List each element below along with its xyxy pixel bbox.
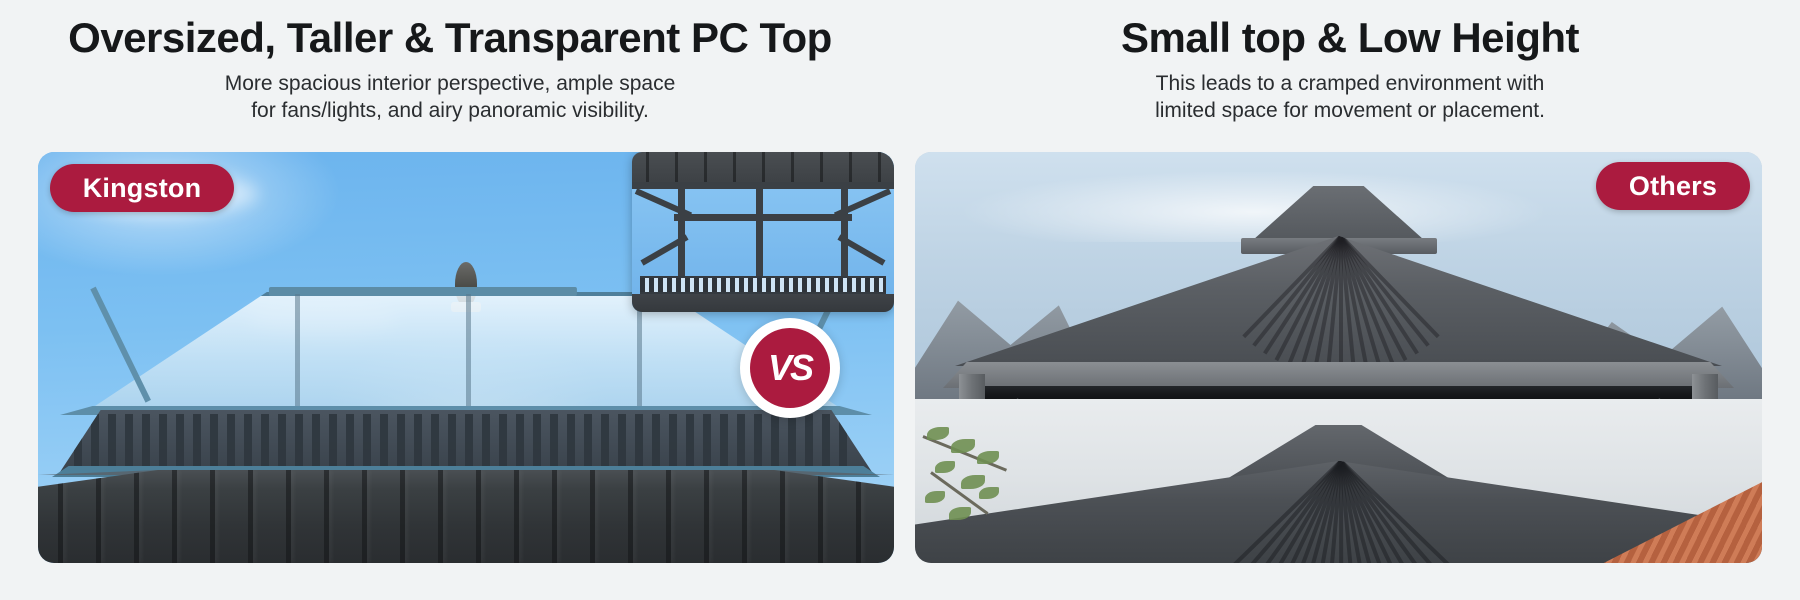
metal-roof-seam [58, 470, 63, 563]
right-subtitle-line-1: This leads to a cramped environment with [900, 71, 1800, 98]
badge-kingston: Kingston [50, 164, 234, 212]
railing-baluster [363, 414, 371, 468]
railing-baluster [193, 414, 201, 468]
inset-vent-grille [640, 276, 886, 294]
railing-baluster [703, 414, 711, 468]
others-lower-image [915, 399, 1762, 563]
railing-baluster [176, 414, 184, 468]
railing-baluster [278, 414, 286, 468]
tree-foliage [921, 425, 1051, 545]
metal-roof-seam [742, 470, 747, 563]
badge-kingston-label: Kingston [83, 173, 202, 204]
metal-roof-seam [400, 470, 405, 563]
leaf [949, 507, 971, 520]
railing-baluster [652, 414, 660, 468]
pc-roof-mullion [466, 294, 471, 408]
inset-ceiling-rib [878, 152, 881, 186]
railing-baluster [686, 414, 694, 468]
metal-roof-seam [514, 470, 519, 563]
inset-lower-frame [632, 294, 894, 312]
inset-ceiling-rib [849, 152, 852, 186]
railing-baluster [482, 414, 490, 468]
left-subtitle: More spacious interior perspective, ampl… [0, 71, 900, 125]
railing-baluster [261, 414, 269, 468]
leaf [951, 439, 975, 453]
railing-baluster [329, 414, 337, 468]
gazebo-fascia [943, 362, 1734, 388]
metal-roof-seam [438, 470, 443, 563]
metal-roof-seam [286, 470, 291, 563]
badge-others-label: Others [1629, 171, 1717, 202]
metal-roof-seam [590, 470, 595, 563]
inset-frame-beam [674, 214, 852, 221]
metal-roof-seam [324, 470, 329, 563]
railing-baluster [601, 414, 609, 468]
metal-roof-seam [780, 470, 785, 563]
inset-ceiling-rib [646, 152, 649, 186]
right-column-heading: Small top & Low Height This leads to a c… [900, 14, 1800, 125]
left-title: Oversized, Taller & Transparent PC Top [0, 14, 900, 61]
vs-label: VS [768, 347, 812, 389]
metal-roof-seam [248, 470, 253, 563]
right-title: Small top & Low Height [900, 14, 1800, 61]
interior-ceiling-inset-image [632, 152, 894, 312]
gazebo-post-left [959, 374, 985, 399]
railing-baluster [669, 414, 677, 468]
railing-baluster [550, 414, 558, 468]
comparison-banner: Oversized, Taller & Transparent PC Top M… [0, 0, 1800, 600]
metal-roof-seam [210, 470, 215, 563]
pc-roof-slope-left [90, 287, 151, 403]
railing-baluster [210, 414, 218, 468]
railing-baluster [346, 414, 354, 468]
railing-baluster [431, 414, 439, 468]
metal-roof-seam [704, 470, 709, 563]
railing-baluster [516, 414, 524, 468]
railing-balusters [60, 410, 872, 472]
railing-baluster [788, 414, 796, 468]
left-column-heading: Oversized, Taller & Transparent PC Top M… [0, 14, 900, 125]
metal-roof-seam [476, 470, 481, 563]
leaf [977, 451, 999, 464]
leaf [961, 475, 985, 489]
right-subtitle-line-2: limited space for movement or placement. [900, 98, 1800, 125]
badge-others: Others [1596, 162, 1750, 210]
railing-baluster [108, 414, 116, 468]
railing-baluster [465, 414, 473, 468]
metal-roof-seam [362, 470, 367, 563]
railing-baluster [125, 414, 133, 468]
leaf [935, 461, 955, 473]
vs-medallion: VS [740, 318, 840, 418]
metal-roof-seam [818, 470, 823, 563]
metal-roof [38, 470, 894, 563]
metal-roof-seam [628, 470, 633, 563]
left-subtitle-line-2: for fans/lights, and airy panoramic visi… [0, 98, 900, 125]
inset-ceiling-rib [704, 152, 707, 186]
railing-baluster [414, 414, 422, 468]
railing-baluster [244, 414, 252, 468]
leaf [925, 491, 945, 503]
metal-roof-seam [134, 470, 139, 563]
metal-roof-seam [96, 470, 101, 563]
railing-baluster [295, 414, 303, 468]
railing-baluster [499, 414, 507, 468]
railing-baluster [142, 414, 150, 468]
railing-baluster [227, 414, 235, 468]
inset-ceiling-rib [791, 152, 794, 186]
others-product-images: Others [915, 152, 1762, 563]
left-subtitle-line-1: More spacious interior perspective, ampl… [0, 71, 900, 98]
railing-baluster [805, 414, 813, 468]
inset-ceiling-rib [675, 152, 678, 186]
railing-baluster [754, 414, 762, 468]
vs-medallion-inner: VS [750, 328, 830, 408]
inset-ceiling-rib [733, 152, 736, 186]
leaf [979, 487, 999, 499]
metal-roof-seam [172, 470, 177, 563]
gazebo-hardtop-roof [955, 236, 1722, 366]
metal-roof-seam [666, 470, 671, 563]
railing-baluster [397, 414, 405, 468]
gazebo-post-right [1692, 374, 1718, 399]
railing-baluster [720, 414, 728, 468]
railing-baluster [567, 414, 575, 468]
railing-baluster [380, 414, 388, 468]
railing-baluster [533, 414, 541, 468]
railing-baluster [635, 414, 643, 468]
inset-ceiling-rib [762, 152, 765, 186]
railing-baluster [312, 414, 320, 468]
inset-ceiling-rib [820, 152, 823, 186]
railing-baluster [448, 414, 456, 468]
metal-roof-seam [552, 470, 557, 563]
right-subtitle: This leads to a cramped environment with… [900, 71, 1800, 125]
railing-baluster [159, 414, 167, 468]
inset-ceiling-panel [632, 152, 894, 186]
railing-baluster [822, 414, 830, 468]
railing-baluster [737, 414, 745, 468]
inset-frame-beam [632, 182, 894, 189]
metal-roof-seam [856, 470, 861, 563]
railing-baluster [618, 414, 626, 468]
gazebo-interior-shadow [975, 386, 1702, 399]
pc-roof-ridge [269, 287, 577, 296]
inset-frame-post [756, 186, 763, 284]
pc-roof-mullion [295, 294, 300, 408]
railing-baluster [771, 414, 779, 468]
railing-baluster [584, 414, 592, 468]
leaf [927, 427, 949, 440]
